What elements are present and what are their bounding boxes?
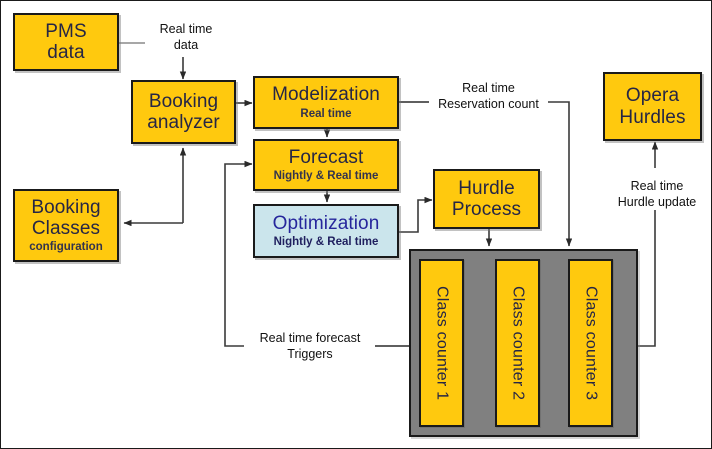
wire-optimization-to-hurdle [399,200,432,232]
pms-data-line2: data [47,42,84,63]
pms-data-line1: PMS [45,21,86,42]
edge-label-hurdle-update-line1: Real time [603,179,711,195]
modelization-sub: Real time [300,108,351,121]
edge-label-hurdle-update: Real time Hurdle update [601,179,712,210]
class-counter-1-label: Class counter 1 [433,286,451,400]
edge-label-forecast-triggers-line2: Triggers [247,347,373,363]
booking-classes-sub: configuration [29,241,102,254]
node-booking-classes[interactable]: Booking Classes configuration [13,189,119,262]
node-booking-analyzer[interactable]: Booking analyzer [131,80,236,144]
booking-classes-line2: Classes [32,218,100,239]
booking-analyzer-line1: Booking [149,91,218,112]
class-counter-3[interactable]: Class counter 3 [568,259,613,427]
edge-label-reservation-count-line2: Reservation count [431,97,546,113]
forecast-sub: Nightly & Real time [274,170,379,183]
booking-analyzer-line2: analyzer [147,112,220,133]
wire-counters-to-opera-right [638,209,655,346]
class-counter-2[interactable]: Class counter 2 [495,259,540,427]
optimization-sub: Nightly & Real time [274,236,379,249]
edge-label-reservation-count-line1: Real time [431,81,546,97]
edge-label-reservation-count: Real time Reservation count [429,81,548,112]
node-opera-hurdles[interactable]: Opera Hurdles [603,72,702,141]
opera-hurdles-line1: Opera [626,85,679,106]
edge-label-real-time-data-line2: data [148,38,224,54]
wire-triggers-to-forecast [225,164,252,346]
node-hurdle-process[interactable]: Hurdle Process [433,169,540,229]
node-forecast[interactable]: Forecast Nightly & Real time [253,139,399,191]
wire-count-to-container [542,102,569,246]
class-counter-2-label: Class counter 2 [509,286,527,400]
class-counter-3-label: Class counter 3 [582,286,600,400]
forecast-line1: Forecast [289,147,364,168]
diagram-canvas: PMS data Booking analyzer Booking Classe… [0,0,712,449]
optimization-line1: Optimization [273,213,380,234]
edge-label-forecast-triggers-line1: Real time forecast [247,331,373,347]
opera-hurdles-line2: Hurdles [619,107,685,128]
node-optimization[interactable]: Optimization Nightly & Real time [253,204,399,258]
booking-classes-line1: Booking [31,197,100,218]
edge-label-real-time-data: Real time data [146,22,226,53]
edge-label-real-time-data-line1: Real time [148,22,224,38]
edge-label-forecast-triggers: Real time forecast Triggers [245,331,375,362]
node-pms-data[interactable]: PMS data [13,13,119,71]
modelization-line1: Modelization [272,84,380,105]
node-modelization[interactable]: Modelization Real time [253,76,399,129]
hurdle-process-line1: Hurdle [458,178,515,199]
class-counter-1[interactable]: Class counter 1 [419,259,464,427]
hurdle-process-line2: Process [452,199,521,220]
edge-label-hurdle-update-line2: Hurdle update [603,195,711,211]
